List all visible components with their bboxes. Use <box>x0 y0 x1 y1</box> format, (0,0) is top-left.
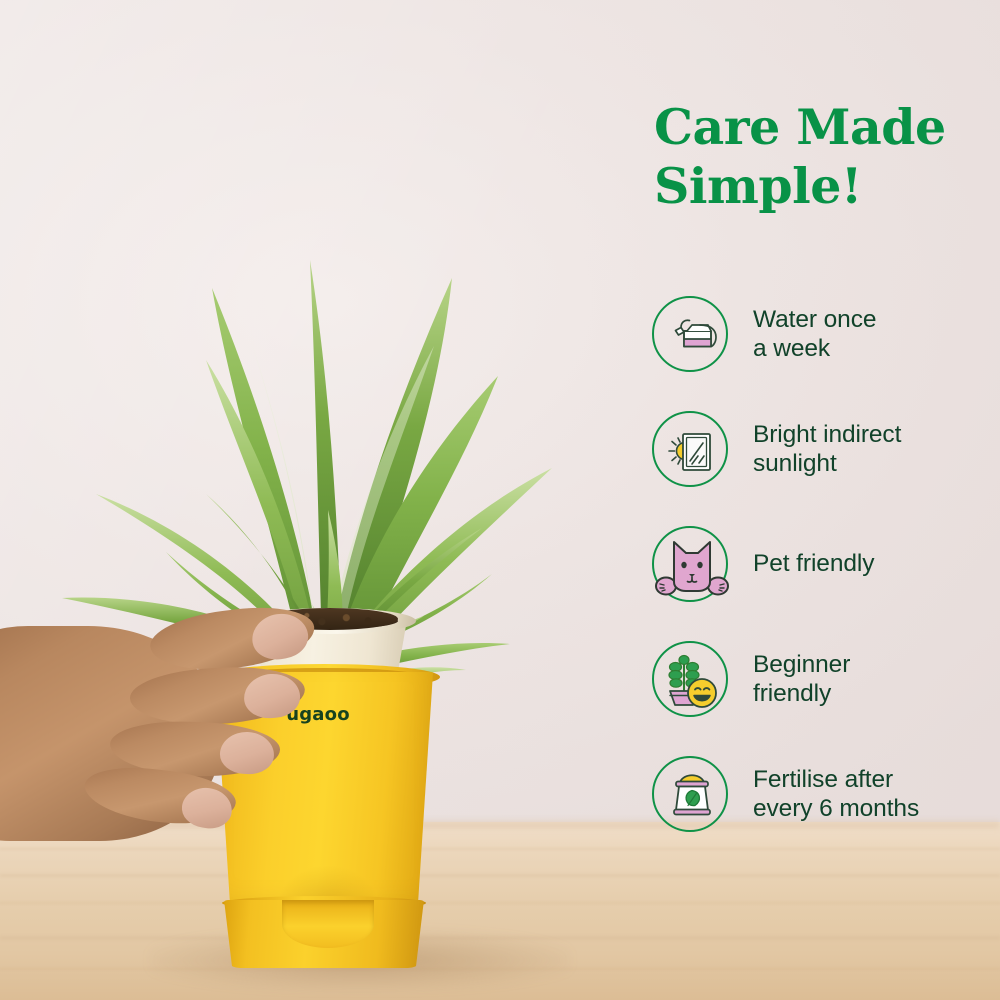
hand-holding-pot <box>0 556 340 856</box>
fertiliser-bag-icon <box>652 756 728 832</box>
feature-item-water: Water once a week <box>652 296 992 372</box>
feature-label-beginner-friendly: Beginner friendly <box>753 650 850 709</box>
feature-label-pet-friendly: Pet friendly <box>753 549 874 578</box>
plant-smiley-icon <box>652 641 728 717</box>
feature-label-water: Water once a week <box>753 305 876 364</box>
window-sun-icon <box>652 411 728 487</box>
page-title-line-1: Care Made <box>654 98 984 157</box>
feature-label-fertilise: Fertilise after every 6 months <box>753 765 919 824</box>
page-title-line-2: Simple! <box>654 157 984 216</box>
page-title: Care Made Simple! <box>654 98 984 216</box>
feature-label-sunlight: Bright indirect sunlight <box>753 420 901 479</box>
wood-grain-line <box>0 874 1000 877</box>
cat-icon <box>652 526 728 602</box>
watering-can-icon <box>652 296 728 372</box>
feature-item-sunlight: Bright indirect sunlight <box>652 411 992 487</box>
wood-grain-line <box>0 902 1000 904</box>
feature-item-fertilise: Fertilise after every 6 months <box>652 756 992 832</box>
feature-item-beginner-friendly: Beginner friendly <box>652 641 992 717</box>
pot-water-level-notch <box>282 900 374 948</box>
feature-item-pet-friendly: Pet friendly <box>652 526 992 602</box>
product-care-infographic: ugaoo Care Made Simple! <box>0 0 1000 1000</box>
care-feature-list: Water once a week <box>652 296 992 832</box>
